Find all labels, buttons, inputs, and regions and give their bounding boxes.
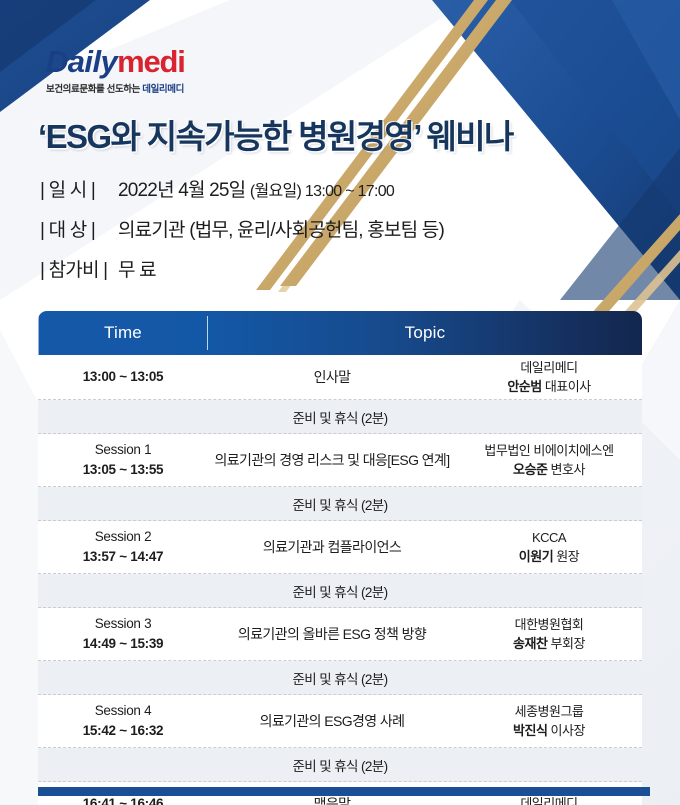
info-line-audience: | 대 상 | 의료기관 (법무, 윤리/사회공헌팀, 홍보팀 등) [40,215,640,242]
cell-topic: 의료기관의 경영 리스크 및 대응[ESG 연계] [208,450,456,470]
page-title: ‘ESG와 지속가능한 병원경영’ 웨비나 [38,110,513,158]
info-label-audience: | 대 상 | [40,215,118,242]
schedule-break-row: 준비 및 휴식 (2분) [38,748,642,782]
break-label: 준비 및 휴식 (2분) [292,668,387,688]
brand-tagline-plain: 보건의료문화를 선도하는 [46,84,142,95]
brand-wordmark: Dailymedi [46,46,296,77]
schedule-break-row: 준비 및 휴식 (2분) [38,661,642,695]
schedule-break-row: 준비 및 휴식 (2분) [38,574,642,608]
cell-topic: 인사말 [208,367,456,387]
brand-tagline-accent: 데일리메디 [142,84,184,95]
session-time: 13:05 ~ 13:55 [38,460,208,480]
speaker-title: 이사장 [547,723,585,738]
schedule-break-row: 준비 및 휴식 (2분) [38,487,642,521]
info-label-fee: | 참가비 | [40,255,118,282]
table-row: Session 415:42 ~ 16:32의료기관의 ESG경영 사례세종병원… [38,695,642,748]
brand-name-daily: Daily [46,44,117,79]
speaker-organization: 법무법인 비에이치에스엔 [456,441,642,461]
break-label: 준비 및 휴식 (2분) [292,581,387,601]
session-label: Session 3 [38,614,208,634]
session-time: 13:00 ~ 13:05 [83,369,164,384]
cell-time: 13:00 ~ 13:05 [38,367,208,387]
column-header-time: Time [38,311,208,355]
info-value-datetime: 2022년 4월 25일 (월요일) 13:00 ~ 17:00 [118,175,394,202]
speaker-title: 대표이사 [542,379,591,394]
break-label: 준비 및 휴식 (2분) [292,755,387,775]
cell-time: Session 213:57 ~ 14:47 [38,527,208,566]
schedule-table: Time Topic 13:00 ~ 13:05인사말데일리메디안순범 대표이사… [38,311,642,805]
cell-time: Session 113:05 ~ 13:55 [38,440,208,479]
speaker-name: 박진식 [513,723,547,738]
speaker-title: 부회장 [547,636,585,651]
cell-speaker: 데일리메디안순범 대표이사 [456,358,642,397]
session-time: 16:41 ~ 16:46 [83,796,164,805]
session-label: Session 2 [38,527,208,547]
info-line-datetime: | 일 시 | 2022년 4월 25일 (월요일) 13:00 ~ 17:00 [40,175,640,202]
speaker-organization: 데일리메디 [456,358,642,378]
brand-logo: Dailymedi 보건의료문화를 선도하는 데일리메디 [46,46,296,95]
schedule-body: 13:00 ~ 13:05인사말데일리메디안순범 대표이사준비 및 휴식 (2분… [38,355,642,805]
cell-time: Session 415:42 ~ 16:32 [38,701,208,740]
info-value-datetime-main: 2022년 4월 25일 [118,180,250,201]
speaker-identity: 박진식 이사장 [456,721,642,741]
speaker-organization: 대한병원협회 [456,615,642,635]
cell-speaker: KCCA이원기 원장 [456,528,642,567]
session-time: 15:42 ~ 16:32 [38,721,208,741]
brand-tagline: 보건의료문화를 선도하는 데일리메디 [46,81,296,95]
speaker-title: 변호사 [547,462,585,477]
break-label: 준비 및 휴식 (2분) [292,494,387,514]
session-label: Session 1 [38,440,208,460]
speaker-organization: 세종병원그룹 [456,702,642,722]
cell-speaker: 법무법인 비에이치에스엔오승준 변호사 [456,441,642,480]
speaker-name: 안순범 [507,379,541,394]
session-time: 14:49 ~ 15:39 [38,634,208,654]
info-value-fee: 무 료 [118,255,156,282]
cell-topic: 의료기관의 올바른 ESG 정책 방향 [208,624,456,644]
speaker-identity: 오승준 변호사 [456,460,642,480]
table-row: Session 213:57 ~ 14:47의료기관과 컴플라이언스KCCA이원… [38,521,642,574]
table-row: Session 314:49 ~ 15:39의료기관의 올바른 ESG 정책 방… [38,608,642,661]
speaker-organization: KCCA [456,528,642,548]
speaker-identity: 안순범 대표이사 [456,377,642,397]
speaker-name: 오승준 [513,462,547,477]
speaker-identity: 송재찬 부회장 [456,634,642,654]
cell-speaker: 대한병원협회송재찬 부회장 [456,615,642,654]
speaker-name: 이원기 [519,549,553,564]
speaker-title: 원장 [553,549,579,564]
event-info-block: | 일 시 | 2022년 4월 25일 (월요일) 13:00 ~ 17:00… [40,175,640,295]
column-header-topic: Topic [208,311,642,355]
cell-topic: 의료기관의 ESG경영 사례 [208,711,456,731]
session-time: 13:57 ~ 14:47 [38,547,208,567]
footer-bar [38,787,650,796]
info-line-fee: | 참가비 | 무 료 [40,255,640,282]
schedule-break-row: 준비 및 휴식 (2분) [38,400,642,434]
webinar-poster: Dailymedi 보건의료문화를 선도하는 데일리메디 ‘ESG와 지속가능한… [0,0,680,805]
schedule-header-row: Time Topic [38,311,642,355]
table-row: Session 113:05 ~ 13:55의료기관의 경영 리스크 및 대응[… [38,434,642,487]
info-value-audience: 의료기관 (법무, 윤리/사회공헌팀, 홍보팀 등) [118,215,444,242]
break-label: 준비 및 휴식 (2분) [292,407,387,427]
brand-name-medi: medi [117,44,185,79]
session-label: Session 4 [38,701,208,721]
speaker-name: 송재찬 [513,636,547,651]
info-value-datetime-sub: (월요일) 13:00 ~ 17:00 [250,183,394,200]
cell-topic: 의료기관과 컴플라이언스 [208,537,456,557]
table-row: 13:00 ~ 13:05인사말데일리메디안순범 대표이사 [38,355,642,400]
cell-speaker: 세종병원그룹박진식 이사장 [456,702,642,741]
info-label-datetime: | 일 시 | [40,175,118,202]
speaker-identity: 이원기 원장 [456,547,642,567]
cell-time: Session 314:49 ~ 15:39 [38,614,208,653]
